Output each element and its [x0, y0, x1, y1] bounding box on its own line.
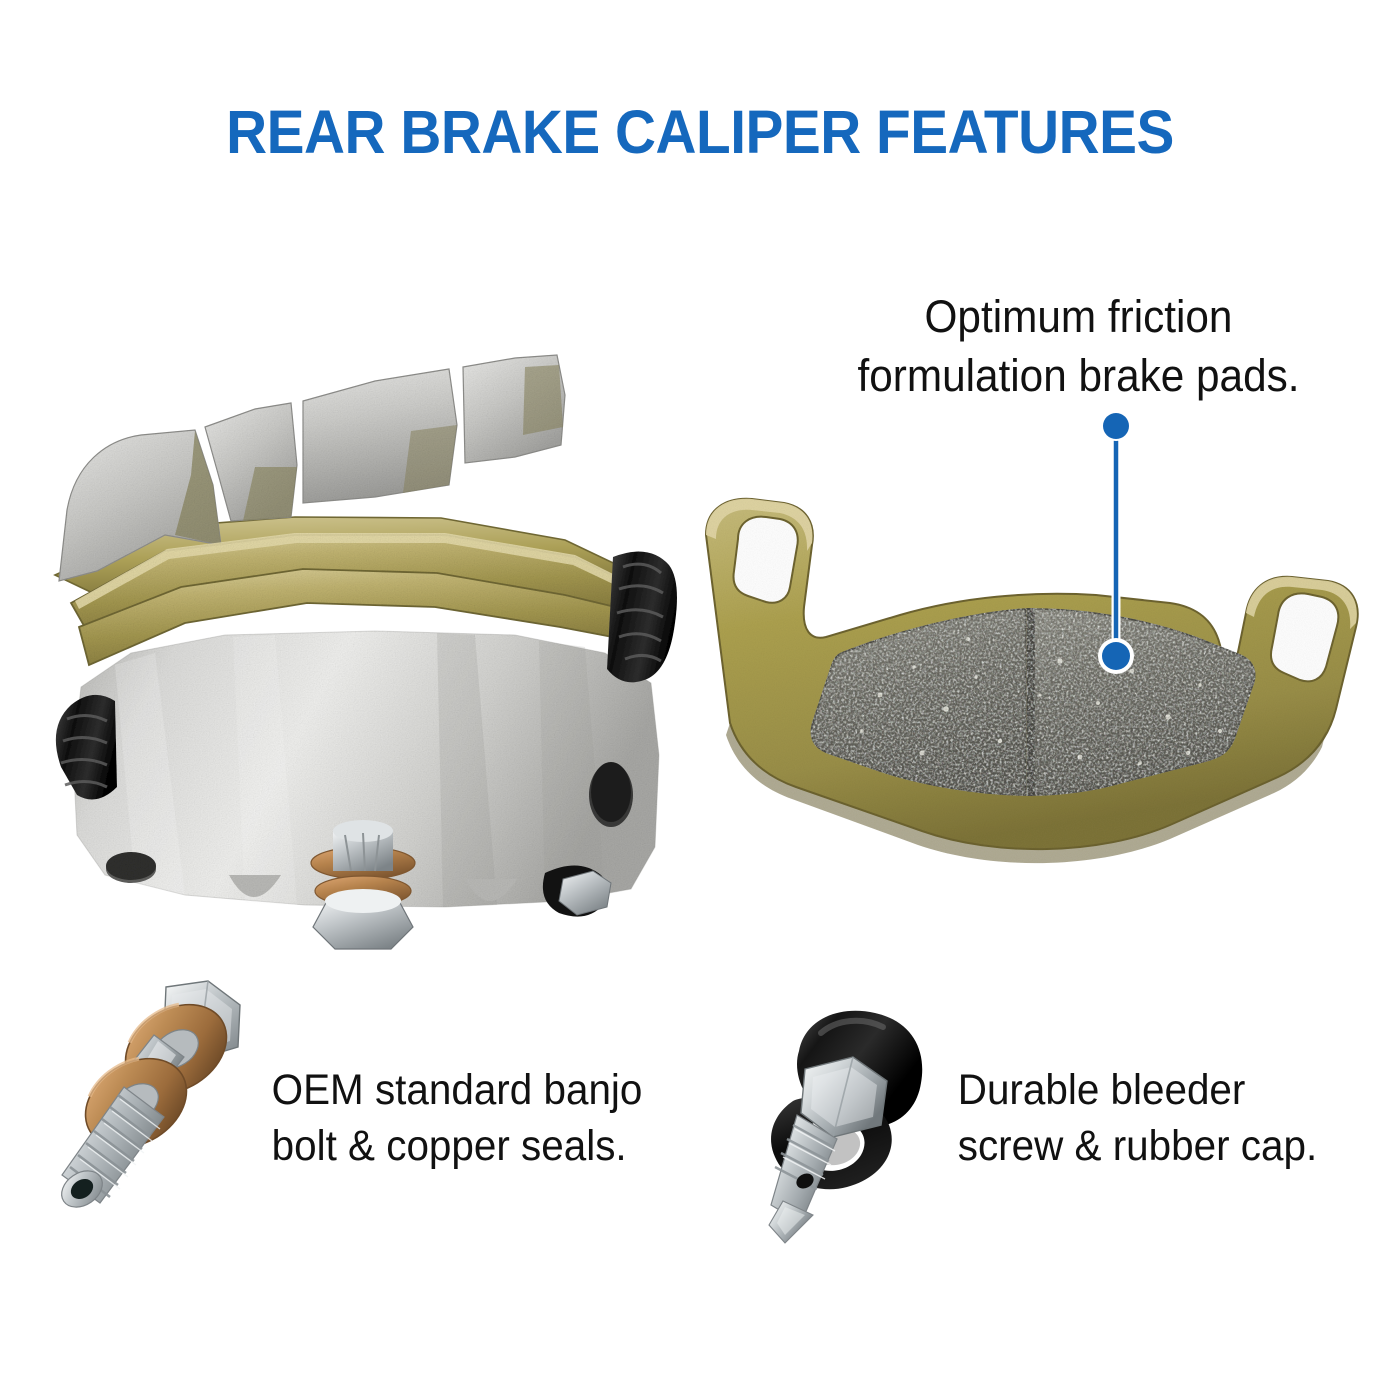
leader-dot-bottom	[1102, 642, 1130, 670]
callout-banjo-bolt-text: OEM standard banjo bolt & copper seals.	[272, 1063, 700, 1175]
callout-brake-pads-line1: Optimum friction	[822, 288, 1334, 347]
caliper-slide-pin-boot-right	[607, 552, 677, 683]
callout-brake-pads-line2: formulation brake pads.	[822, 347, 1334, 406]
bleeder-screw-image	[735, 1005, 965, 1245]
infographic-canvas: REAR BRAKE CALIPER FEATURES	[0, 0, 1400, 1400]
brake-pad-image	[700, 495, 1360, 895]
caliper-slide-pin-boot-left	[56, 695, 117, 800]
callout-bleeder-screw-line2: screw & rubber cap.	[958, 1119, 1358, 1175]
callout-bleeder-screw-line1: Durable bleeder	[958, 1063, 1358, 1119]
callout-banjo-bolt-line2: bolt & copper seals.	[272, 1119, 700, 1175]
caliper-assembly-image	[45, 335, 685, 915]
brake-pad-callout-leader	[1100, 408, 1132, 674]
page-title: REAR BRAKE CALIPER FEATURES	[49, 97, 1351, 167]
callout-banjo-bolt-line1: OEM standard banjo	[272, 1063, 700, 1119]
callout-bleeder-screw-text: Durable bleeder screw & rubber cap.	[958, 1063, 1358, 1175]
leader-dot-top	[1103, 413, 1129, 439]
banjo-bolt-image	[48, 975, 258, 1225]
callout-brake-pads-text: Optimum friction formulation brake pads.	[822, 288, 1334, 405]
